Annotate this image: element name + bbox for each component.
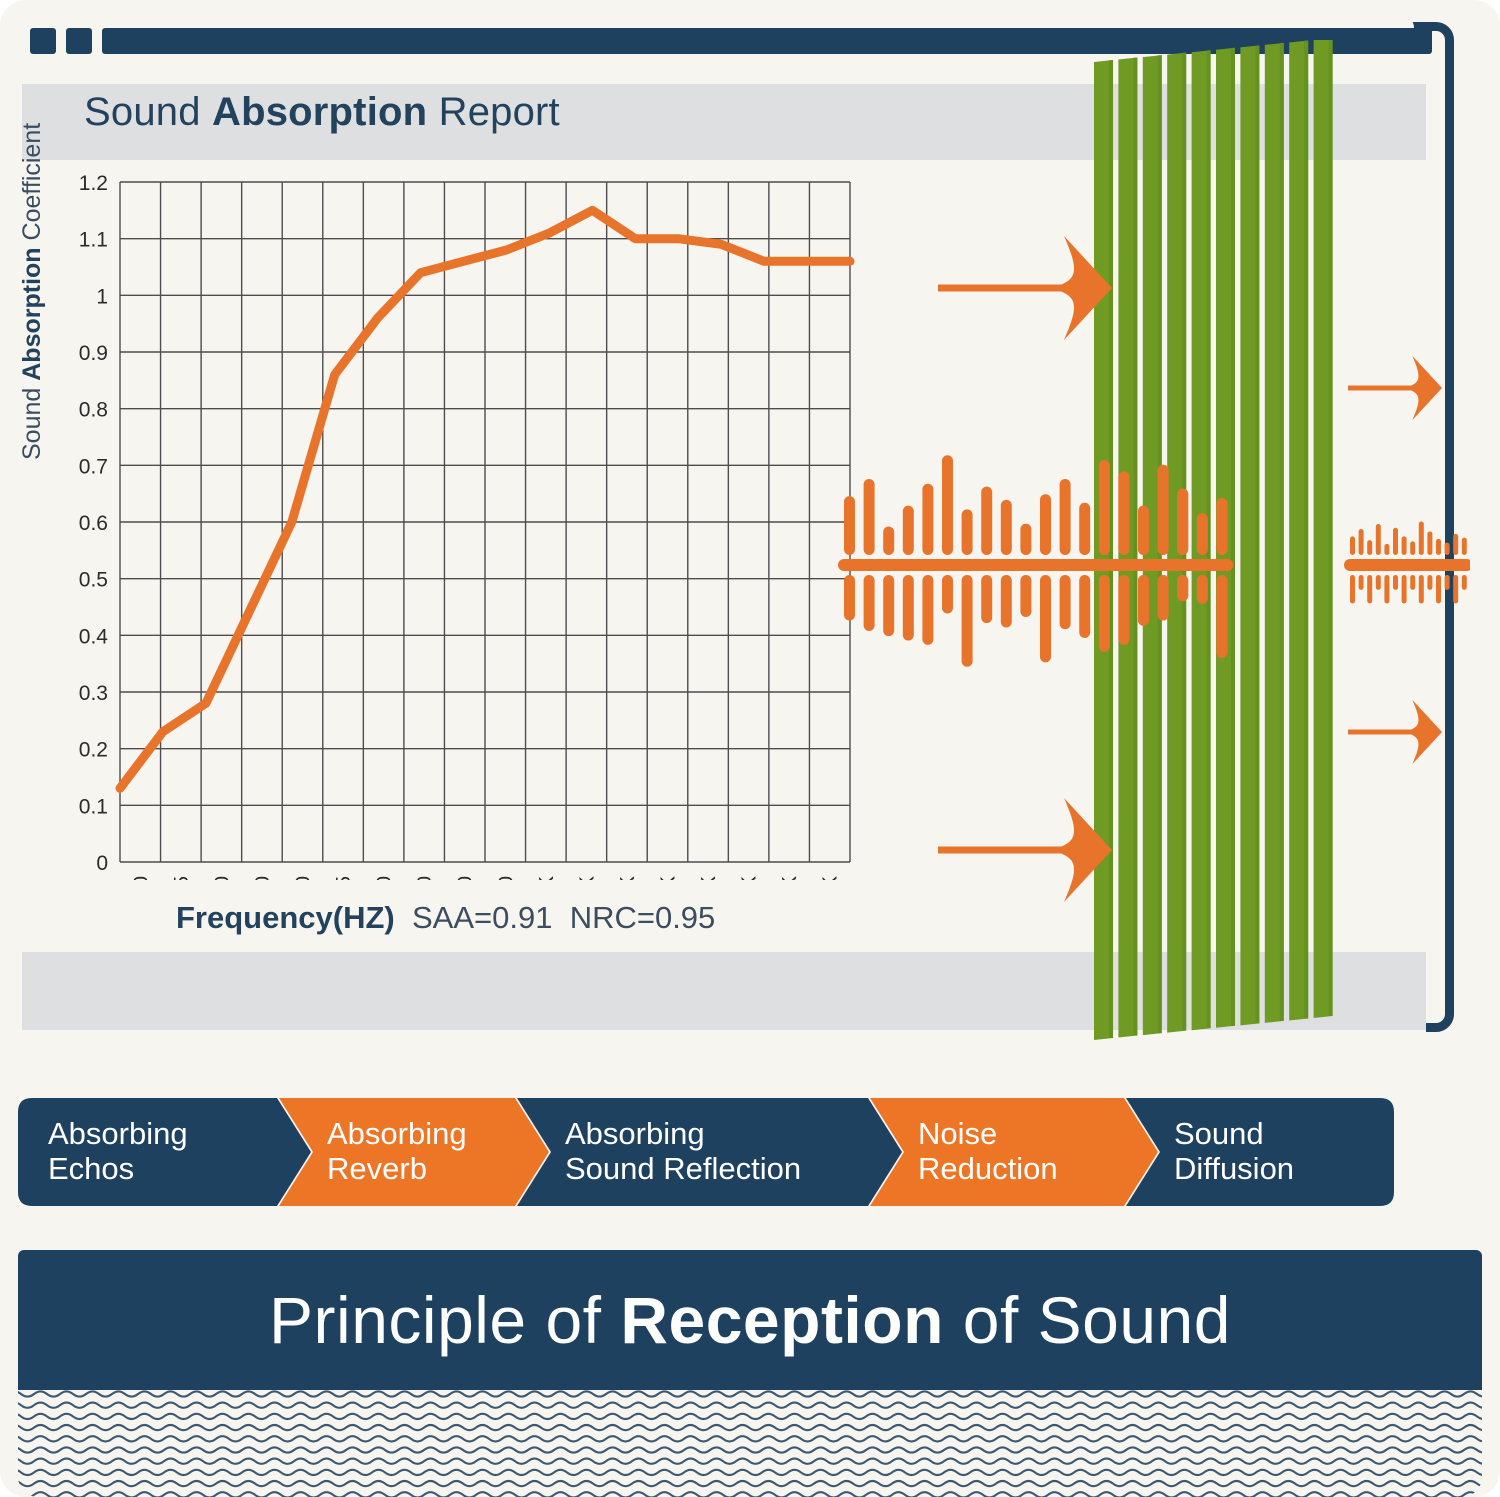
chart-svg: 1.21.110.90.80.70.60.50.40.30.20.1010012… bbox=[28, 160, 868, 880]
x-tick-label: 125 bbox=[171, 876, 193, 880]
wave-row bbox=[18, 1391, 1482, 1396]
footer-title-bold: Reception bbox=[620, 1283, 944, 1357]
arrow-head-icon bbox=[1410, 700, 1442, 764]
x-tick-label: 500 bbox=[414, 876, 436, 880]
window-dot-2-icon bbox=[66, 28, 92, 54]
chevron-4[interactable]: Noise Reduction bbox=[870, 1098, 1158, 1206]
x-tick-label: 1.25K bbox=[576, 875, 598, 880]
saa-value: SAA=0.91 bbox=[412, 900, 552, 935]
chevron-label: Absorbing Reverb bbox=[279, 1117, 467, 1186]
waveform-bar bbox=[1216, 498, 1227, 555]
waveform-bar bbox=[864, 479, 875, 555]
arrow-outgoing-top bbox=[1348, 356, 1442, 420]
y-tick-label: 1 bbox=[96, 285, 108, 308]
waveform-bar bbox=[1393, 528, 1398, 555]
panel-slat-edge bbox=[1231, 48, 1235, 1026]
y-tick-label: 0.2 bbox=[79, 739, 108, 762]
y-tick-label: 0 bbox=[96, 852, 108, 875]
waveform-bar bbox=[1040, 575, 1051, 662]
waveform-bar bbox=[844, 496, 855, 555]
report-title-prefix: Sound bbox=[84, 90, 212, 134]
report-title: Sound Absorption Report bbox=[84, 90, 560, 135]
waveform-bar bbox=[1367, 575, 1372, 604]
footer-title-band: Principle of Reception of Sound bbox=[18, 1250, 1482, 1390]
absorption-chart: Sound Absorption Coefficient 1.21.110.90… bbox=[28, 160, 868, 880]
waveform-bar bbox=[1118, 575, 1129, 645]
waveform-bar bbox=[1419, 575, 1424, 604]
panel-slat-edge bbox=[1280, 43, 1284, 1021]
chevron-5[interactable]: Sound Diffusion bbox=[1126, 1098, 1394, 1206]
waveform-bar bbox=[1040, 494, 1051, 555]
waveform-bar bbox=[962, 509, 973, 555]
waveform-bar bbox=[1359, 575, 1364, 590]
waveform-bar bbox=[1099, 460, 1110, 555]
chevron-1[interactable]: Absorbing Echos bbox=[18, 1098, 311, 1206]
waveform-bar bbox=[1359, 529, 1364, 555]
waveform-bar bbox=[922, 484, 933, 555]
panel-slat-edge bbox=[1255, 45, 1259, 1023]
waveform-bar bbox=[942, 455, 953, 555]
waveform-bar bbox=[1001, 575, 1012, 627]
x-tick-label: 400 bbox=[374, 876, 396, 880]
wave-row bbox=[18, 1447, 1482, 1452]
x-tick-label: 200 bbox=[252, 876, 274, 880]
arrow-incoming-bottom bbox=[938, 798, 1112, 902]
waveform-transmitted bbox=[1344, 522, 1470, 604]
waveform-bar bbox=[1177, 489, 1188, 556]
waveform-bar bbox=[1436, 539, 1441, 555]
waveform-bar bbox=[1060, 575, 1071, 629]
waveform-bar bbox=[1158, 575, 1169, 620]
x-tick-label: 315 bbox=[333, 876, 355, 880]
waveform-bar bbox=[1462, 575, 1467, 590]
wave-row bbox=[18, 1459, 1482, 1464]
chevron-label: Sound Diffusion bbox=[1126, 1117, 1294, 1186]
waveform-bar bbox=[883, 575, 894, 636]
x-tick-label: 2.5K bbox=[698, 875, 720, 880]
window-dot-1-icon bbox=[30, 28, 56, 54]
waveform-bar bbox=[1462, 538, 1467, 555]
waveform-bar bbox=[1376, 524, 1381, 555]
waveform-bar bbox=[1350, 575, 1355, 604]
panel-illustration bbox=[830, 40, 1470, 1040]
waveform-bar bbox=[1410, 541, 1415, 555]
y-tick-label: 0.6 bbox=[79, 512, 108, 535]
waveform-bar bbox=[981, 487, 992, 555]
chevron-2[interactable]: Absorbing Reverb bbox=[279, 1098, 549, 1206]
wave-row bbox=[18, 1414, 1482, 1419]
panel-slat-edge bbox=[1304, 40, 1308, 1018]
waveform-bar bbox=[844, 575, 855, 620]
panel-slat-edge bbox=[1329, 40, 1333, 1016]
waveform-bar bbox=[1419, 522, 1424, 555]
waveform-bar bbox=[1118, 471, 1129, 555]
x-tick-label: 2K bbox=[658, 875, 680, 880]
waveform-bar bbox=[1376, 575, 1381, 590]
waveform-bar bbox=[1079, 575, 1090, 638]
chevron-3[interactable]: Absorbing Sound Reflection bbox=[517, 1098, 902, 1206]
slat-panel bbox=[1094, 40, 1333, 1040]
feature-chevron-band: Absorbing EchosAbsorbing ReverbAbsorbing… bbox=[18, 1098, 1482, 1206]
wave-row bbox=[18, 1481, 1482, 1486]
y-tick-label: 0.7 bbox=[79, 455, 108, 478]
arrow-incoming-top bbox=[938, 236, 1112, 340]
wave-row bbox=[18, 1492, 1482, 1497]
waveform-bar bbox=[981, 575, 992, 623]
x-tick-label: 250 bbox=[293, 876, 315, 880]
waveform-bar bbox=[1393, 575, 1398, 590]
x-tick-label: 160 bbox=[211, 876, 233, 880]
waveform-bar bbox=[1099, 575, 1110, 652]
waveform-bar bbox=[1384, 575, 1389, 604]
waveform-bar bbox=[1402, 536, 1407, 555]
waveform-bar bbox=[1367, 540, 1372, 555]
x-tick-label: 3.15K bbox=[739, 875, 761, 880]
y-tick-label: 0.5 bbox=[79, 569, 108, 592]
y-tick-label: 0.3 bbox=[79, 682, 108, 705]
wave-row bbox=[18, 1403, 1482, 1408]
arrow-outgoing-bottom bbox=[1348, 700, 1442, 764]
waveform-bar bbox=[1350, 536, 1355, 555]
waveform-bar bbox=[1197, 513, 1208, 555]
wave-pattern-svg bbox=[18, 1390, 1482, 1497]
report-title-suffix: Report bbox=[427, 90, 560, 134]
waveform-bar bbox=[1158, 465, 1169, 555]
waveform-bar bbox=[1060, 479, 1071, 555]
waveform-bar bbox=[1445, 543, 1450, 555]
footer-title-prefix: Principle of bbox=[269, 1283, 620, 1357]
wave-row bbox=[18, 1470, 1482, 1475]
waveform-bar bbox=[1453, 575, 1458, 604]
arrow-head-icon bbox=[1410, 356, 1442, 420]
waveform-bar bbox=[1384, 544, 1389, 555]
waveform-bar bbox=[1020, 524, 1031, 555]
waveform-bar bbox=[903, 575, 914, 641]
waveform-bar bbox=[1436, 575, 1441, 604]
x-tick-label: 4K bbox=[779, 875, 801, 880]
waveform-bar bbox=[1410, 575, 1415, 590]
footer-title-suffix: of Sound bbox=[944, 1283, 1231, 1357]
report-title-bold: Absorption bbox=[212, 90, 427, 134]
y-tick-label: 0.4 bbox=[79, 625, 109, 648]
chevron-label: Noise Reduction bbox=[870, 1117, 1058, 1186]
waveform-bar bbox=[1427, 575, 1432, 590]
waveform-bar bbox=[1216, 575, 1227, 658]
waveform-bar bbox=[1138, 575, 1149, 626]
y-tick-label: 0.8 bbox=[79, 399, 108, 422]
waveform-bar bbox=[1079, 503, 1090, 555]
waveform-bar bbox=[883, 527, 894, 556]
waveform-bar bbox=[1402, 575, 1407, 604]
chart-footer-text: Frequency(HZ) SAA=0.91 NRC=0.95 bbox=[176, 900, 715, 936]
x-tick-label: 630 bbox=[455, 876, 477, 880]
frequency-label: Frequency(HZ) bbox=[176, 900, 395, 935]
footer-title: Principle of Reception of Sound bbox=[269, 1282, 1231, 1358]
infographic-page: Sound Absorption Report Frequency(HZ) SA… bbox=[0, 0, 1500, 1497]
waveform-bar bbox=[1197, 575, 1208, 604]
chevron-label: Absorbing Sound Reflection bbox=[517, 1117, 801, 1186]
waveform-bar bbox=[1445, 575, 1450, 590]
chevron-label: Absorbing Echos bbox=[18, 1117, 188, 1186]
waveform-bar bbox=[962, 575, 973, 667]
waveform-bar bbox=[1453, 534, 1458, 555]
nrc-value: NRC=0.95 bbox=[570, 900, 716, 935]
illustration-svg bbox=[830, 40, 1470, 1040]
waveform-bar bbox=[942, 575, 953, 613]
x-tick-label: 1.6K bbox=[617, 875, 639, 880]
waveform-bar bbox=[1177, 575, 1188, 601]
y-tick-label: 0.9 bbox=[79, 342, 108, 365]
waveform-bar bbox=[1427, 531, 1432, 555]
wave-row bbox=[18, 1425, 1482, 1430]
waveform-bar bbox=[1138, 506, 1149, 555]
y-tick-label: 1.1 bbox=[79, 229, 108, 252]
x-tick-label: 800 bbox=[495, 876, 517, 880]
waveform-bar bbox=[922, 575, 933, 645]
waveform-baseline bbox=[1344, 559, 1470, 571]
panel-slat-edge bbox=[1133, 58, 1137, 1036]
wave-row bbox=[18, 1436, 1482, 1441]
waveform-bar bbox=[1001, 500, 1012, 555]
x-tick-label: 100 bbox=[130, 876, 152, 880]
x-tick-label: 1K bbox=[536, 875, 558, 880]
waveform-bar bbox=[864, 575, 875, 631]
y-tick-label: 0.1 bbox=[79, 795, 108, 818]
wave-pattern-strip bbox=[18, 1390, 1482, 1497]
y-tick-label: 1.2 bbox=[79, 172, 108, 195]
waveform-bar bbox=[903, 506, 914, 555]
waveform-bar bbox=[1020, 575, 1031, 617]
